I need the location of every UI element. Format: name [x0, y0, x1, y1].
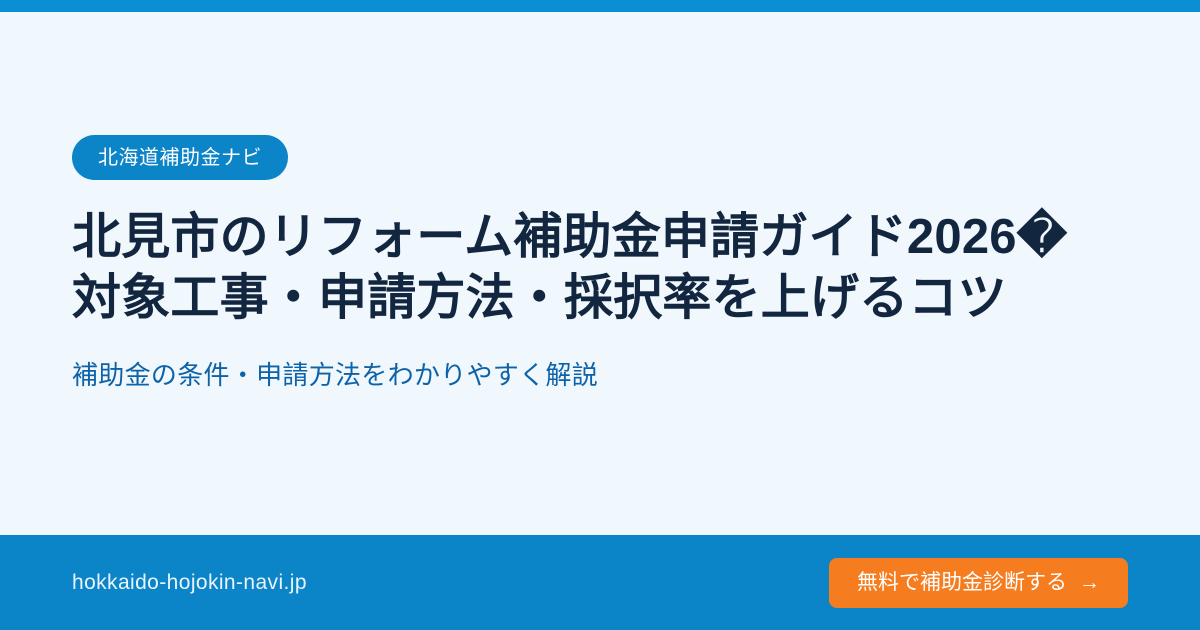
card-content: 北海道補助金ナビ 北見市のリフォーム補助金申請ガイド2026�対象工事・申請方法…: [0, 12, 1200, 535]
og-share-card: 北海道補助金ナビ 北見市のリフォーム補助金申請ガイド2026�対象工事・申請方法…: [0, 0, 1200, 630]
page-title: 北見市のリフォーム補助金申請ガイド2026�対象工事・申請方法・採択率を上げるコ…: [72, 207, 1112, 329]
site-domain: hokkaido-hojokin-navi.jp: [72, 571, 307, 595]
cta-label: 無料で補助金診断する: [857, 572, 1067, 593]
site-badge: 北海道補助金ナビ: [72, 135, 288, 180]
arrow-right-icon: →: [1079, 572, 1100, 593]
page-subtitle: 補助金の条件・申請方法をわかりやすく解説: [72, 357, 1128, 393]
footer-bar: hokkaido-hojokin-navi.jp 無料で補助金診断する →: [0, 535, 1200, 630]
free-subsidy-diagnosis-button[interactable]: 無料で補助金診断する →: [829, 558, 1128, 608]
top-accent-bar: [0, 0, 1200, 12]
